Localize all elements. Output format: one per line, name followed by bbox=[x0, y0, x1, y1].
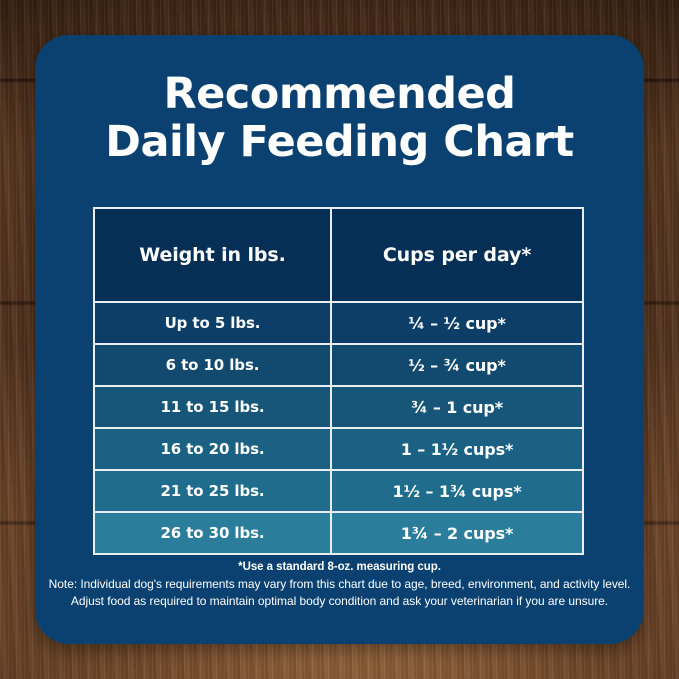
table-row: 11 to 15 lbs. ¾ – 1 cup* bbox=[95, 385, 582, 427]
table-row: 6 to 10 lbs. ½ – ¾ cup* bbox=[95, 343, 582, 385]
row-cups: ¾ – 1 cup* bbox=[332, 387, 582, 427]
table-header-weight: Weight in lbs. bbox=[95, 209, 332, 301]
page-title-line-1: Recommended bbox=[35, 70, 644, 118]
row-weight: 11 to 15 lbs. bbox=[95, 387, 332, 427]
feeding-chart-card: Recommended Daily Feeding Chart Weight i… bbox=[35, 35, 644, 644]
screenshot-stage: Recommended Daily Feeding Chart Weight i… bbox=[0, 0, 679, 679]
row-cups: 1 – 1½ cups* bbox=[332, 429, 582, 469]
table-header-row: Weight in lbs. Cups per day* bbox=[95, 209, 582, 301]
footnote-note-line-2: Adjust food as required to maintain opti… bbox=[35, 593, 644, 610]
footnotes: *Use a standard 8-oz. measuring cup. Not… bbox=[35, 559, 644, 610]
row-cups: ¼ – ½ cup* bbox=[332, 303, 582, 343]
row-cups: ½ – ¾ cup* bbox=[332, 345, 582, 385]
row-cups: 1½ – 1¾ cups* bbox=[332, 471, 582, 511]
table-row: Up to 5 lbs. ¼ – ½ cup* bbox=[95, 301, 582, 343]
row-weight: 21 to 25 lbs. bbox=[95, 471, 332, 511]
feeding-chart-table: Weight in lbs. Cups per day* Up to 5 lbs… bbox=[93, 207, 584, 555]
footnote-note-line-1: Note: Individual dog's requirements may … bbox=[35, 576, 644, 593]
page-title: Recommended Daily Feeding Chart bbox=[35, 70, 644, 166]
table-row: 16 to 20 lbs. 1 – 1½ cups* bbox=[95, 427, 582, 469]
row-weight: 6 to 10 lbs. bbox=[95, 345, 332, 385]
row-weight: Up to 5 lbs. bbox=[95, 303, 332, 343]
row-cups: 1¾ – 2 cups* bbox=[332, 513, 582, 553]
table-header-cups: Cups per day* bbox=[332, 209, 582, 301]
page-title-line-2: Daily Feeding Chart bbox=[35, 118, 644, 166]
footnote-asterisk: *Use a standard 8-oz. measuring cup. bbox=[35, 559, 644, 576]
table-row: 26 to 30 lbs. 1¾ – 2 cups* bbox=[95, 511, 582, 553]
table-row: 21 to 25 lbs. 1½ – 1¾ cups* bbox=[95, 469, 582, 511]
row-weight: 16 to 20 lbs. bbox=[95, 429, 332, 469]
row-weight: 26 to 30 lbs. bbox=[95, 513, 332, 553]
